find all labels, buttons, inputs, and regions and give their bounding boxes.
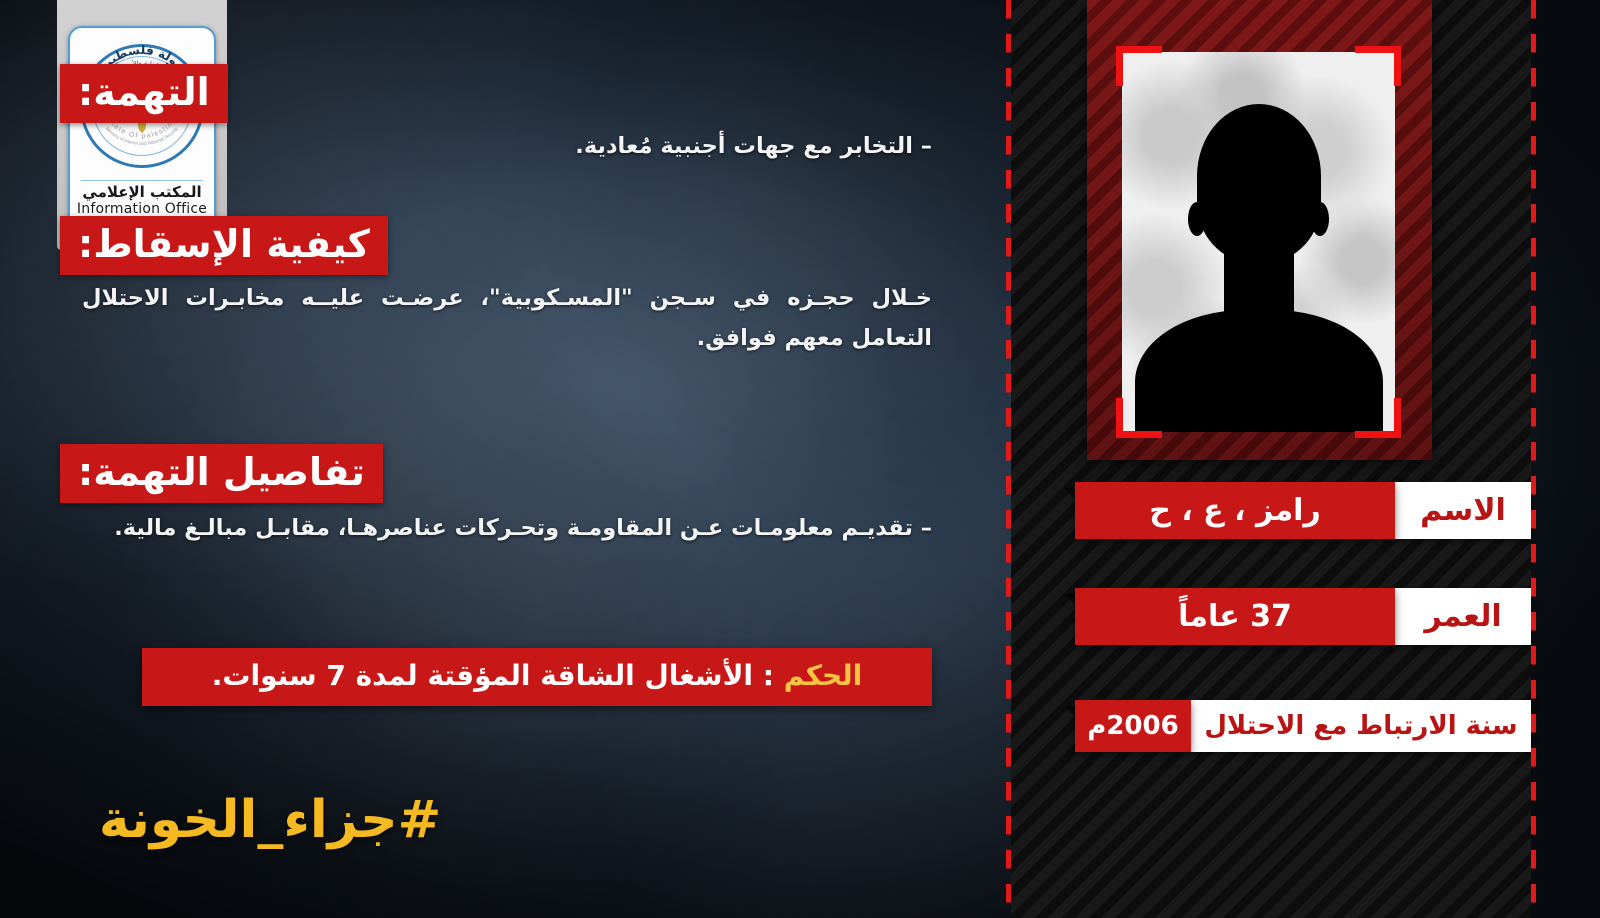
verdict-text: : الأشغال الشاقة المؤقتة لمدة 7 سنوات. <box>212 659 784 692</box>
divider-dashed-right <box>1531 0 1536 918</box>
frame-bracket-bottom-left-icon <box>1116 398 1162 438</box>
details-body: – تقديـم معلومـات عـن المقاومـة وتحـركات… <box>82 508 932 548</box>
method-heading-row: كيفية الإسقاط: <box>60 216 932 275</box>
details-heading: تفاصيل التهمة: <box>60 444 383 503</box>
frame-bracket-bottom-right-icon <box>1355 398 1401 438</box>
verdict-label: الحكم <box>784 659 863 692</box>
info-value-recruitment-year: 2006م <box>1075 700 1191 752</box>
frame-bracket-top-left-icon <box>1116 46 1162 86</box>
info-row-name: الاسم رامز ، ع ، ح <box>1075 482 1531 539</box>
silhouette-shoulders <box>1135 310 1383 432</box>
info-row-recruitment-year: سنة الارتباط مع الاحتلال 2006م <box>1075 700 1531 752</box>
silhouette-head <box>1197 104 1321 262</box>
content-column: التهمة: – التخابر مع جهات أجنبية مُعادية… <box>60 0 960 918</box>
method-body: خـلال حجـزه في سـجن "المسـكوبية"، عرضـت … <box>82 278 932 358</box>
frame-bracket-top-right-icon <box>1355 46 1401 86</box>
profile-panel: الاسم رامز ، ع ، ح العمر 37 عاماً سنة ال… <box>1011 0 1531 918</box>
poster-canvas: دولة فلسطين وزارة الداخلية والأمن الوطني… <box>0 0 1600 918</box>
verdict-banner: الحكم : الأشغال الشاقة المؤقتة لمدة 7 سن… <box>142 648 932 706</box>
info-value-age: 37 عاماً <box>1075 588 1395 645</box>
photo-backdrop <box>1087 0 1432 460</box>
portrait-photo <box>1122 52 1395 432</box>
silhouette-ear-left <box>1188 202 1206 236</box>
verdict-line: الحكم : الأشغال الشاقة المؤقتة لمدة 7 سن… <box>164 659 910 692</box>
details-heading-row: تفاصيل التهمة: <box>60 444 932 503</box>
silhouette-ear-right <box>1311 202 1329 236</box>
info-label-name: الاسم <box>1395 482 1531 539</box>
method-heading: كيفية الإسقاط: <box>60 216 388 275</box>
charge-heading: التهمة: <box>60 64 228 123</box>
hashtag-text: #جزاء_الخونة <box>60 790 480 850</box>
charge-heading-row: التهمة: <box>60 64 932 123</box>
info-value-name: رامز ، ع ، ح <box>1075 482 1395 539</box>
info-label-recruitment-year: سنة الارتباط مع الاحتلال <box>1191 700 1531 752</box>
divider-dashed-left <box>1006 0 1011 918</box>
info-label-age: العمر <box>1395 588 1531 645</box>
info-row-age: العمر 37 عاماً <box>1075 588 1531 645</box>
charge-body: – التخابر مع جهات أجنبية مُعادية. <box>60 126 932 166</box>
